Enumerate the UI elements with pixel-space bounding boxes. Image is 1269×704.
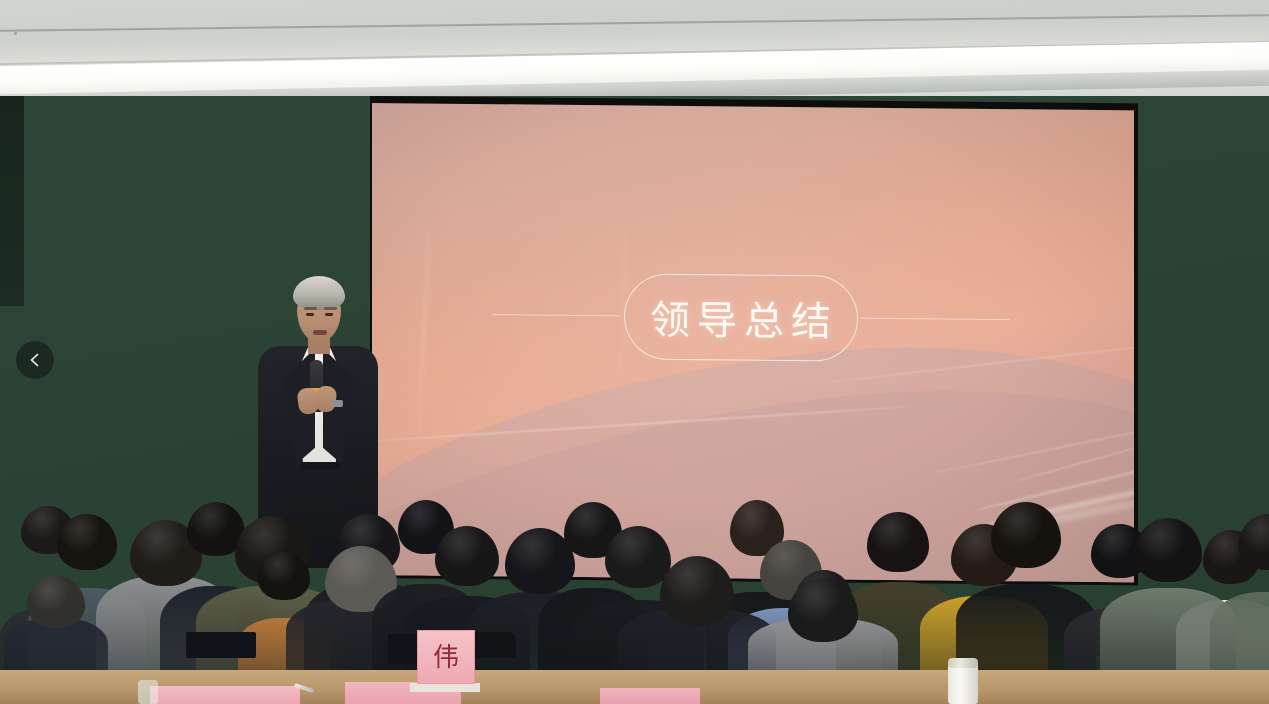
- name-card-stand: [410, 683, 480, 692]
- audience-member-head: [27, 576, 85, 628]
- audience-member-head: [1238, 514, 1269, 570]
- speaker-eye: [325, 313, 333, 316]
- audience-member-head: [1134, 518, 1202, 582]
- speaker-eyebrow: [304, 307, 317, 310]
- laptop: [186, 632, 256, 658]
- water-glass: [138, 680, 158, 704]
- audience-member-head: [788, 578, 858, 642]
- thermos-cap: [948, 658, 978, 668]
- speaker-mouth: [313, 330, 327, 335]
- name-card: 伟: [417, 630, 475, 684]
- ceiling-seam: [0, 14, 1269, 32]
- audience-member-head: [660, 556, 734, 626]
- speaker-eye: [306, 313, 314, 316]
- audience-member-head: [991, 502, 1061, 568]
- name-card-text: 伟: [433, 644, 459, 670]
- chevron-left-icon: [27, 352, 43, 368]
- audience: [0, 440, 1269, 704]
- wall-shadow-left: [0, 96, 24, 306]
- speaker-eyebrow: [324, 307, 337, 310]
- speaker-hair: [293, 276, 345, 310]
- ceiling-fixture-dot: [14, 32, 17, 35]
- speaker-wristwatch: [332, 400, 343, 407]
- pink-paper-sheet: [150, 686, 300, 704]
- previous-image-button[interactable]: [16, 341, 54, 379]
- pink-paper-sheet: [600, 688, 700, 704]
- photo-viewer: 领导总结 伟: [0, 0, 1269, 704]
